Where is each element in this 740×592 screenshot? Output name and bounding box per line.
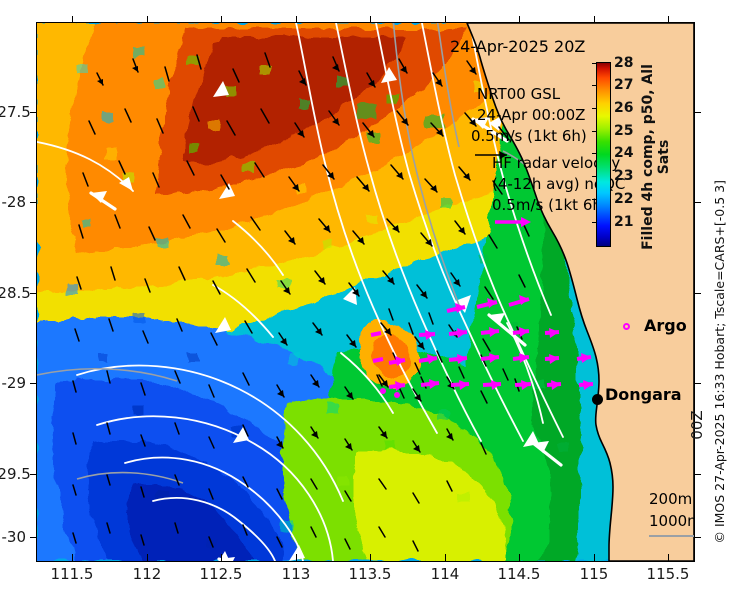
y-tick xyxy=(30,474,37,475)
timestamp-label: 24-Apr-2025 20Z xyxy=(450,37,585,56)
y-tick-label: -27.5 xyxy=(0,103,26,121)
x-tick xyxy=(147,554,148,561)
y-tick-right xyxy=(694,474,701,475)
y-tick-right xyxy=(694,537,701,538)
colorbar-tick-label: 26 xyxy=(614,100,633,116)
x-tick-label: 112.5 xyxy=(200,565,243,583)
colorbar-tick xyxy=(592,63,596,64)
y-tick xyxy=(30,112,37,113)
colorbar-title: Filled 4h comp, p50, All Sats xyxy=(640,62,672,252)
x-tick xyxy=(72,554,73,561)
x-tick-top xyxy=(668,16,669,23)
x-tick-top xyxy=(221,16,222,23)
argo-marker-icon xyxy=(623,323,630,330)
y-tick-right xyxy=(694,202,701,203)
x-tick-top xyxy=(147,16,148,23)
colorbar-gradient xyxy=(596,62,611,247)
model-scale-label: 0.5m/s (1kt 6h) xyxy=(471,127,587,145)
x-tick-top xyxy=(519,16,520,23)
x-tick-label: 113 xyxy=(282,565,311,583)
x-tick-top xyxy=(594,16,595,23)
model-label-line-2: 24-Apr 00:00Z xyxy=(477,106,585,124)
x-tick-label: 111.5 xyxy=(51,565,94,583)
x-tick-top xyxy=(296,16,297,23)
y-tick-right xyxy=(694,383,701,384)
x-tick xyxy=(519,554,520,561)
colorbar-tick xyxy=(592,222,596,223)
x-tick-top xyxy=(72,16,73,23)
x-tick-label: 114 xyxy=(431,565,460,583)
y-tick xyxy=(30,537,37,538)
x-tick xyxy=(221,554,222,561)
colorbar-tick-label: 28 xyxy=(614,55,633,71)
colorbar-tick-label: 24 xyxy=(614,145,633,161)
right-edge-time-label: 00Z xyxy=(688,410,706,439)
x-tick-label: 112 xyxy=(133,565,162,583)
y-tick-label: -29 xyxy=(0,374,26,392)
y-tick xyxy=(30,383,37,384)
x-tick-label: 113.5 xyxy=(349,565,392,583)
y-tick-right xyxy=(694,112,701,113)
y-tick-label: -28.5 xyxy=(0,284,26,302)
x-tick xyxy=(296,554,297,561)
x-tick xyxy=(594,554,595,561)
colorbar-tick-label: 22 xyxy=(614,191,633,207)
dongara-label: Dongara xyxy=(605,385,682,404)
x-tick-top xyxy=(370,16,371,23)
depth-contour-key-line xyxy=(649,535,694,537)
colorbar-tick-label: 21 xyxy=(614,214,633,230)
y-tick xyxy=(30,202,37,203)
dongara-marker-icon xyxy=(592,394,603,405)
y-tick-right xyxy=(694,293,701,294)
colorbar-tick xyxy=(592,85,596,86)
figure-root: 24-Apr-2025 20Z NRT00 GSL 24-Apr 00:00Z … xyxy=(0,0,740,592)
colorbar-tick-label: 23 xyxy=(614,168,633,184)
colorbar-tick xyxy=(592,108,596,109)
x-tick-label: 114.5 xyxy=(498,565,541,583)
y-tick-label: -30 xyxy=(0,528,26,546)
colorbar-tick xyxy=(592,176,596,177)
colorbar-tick-label: 27 xyxy=(614,77,633,93)
colorbar-tick xyxy=(592,153,596,154)
x-tick-label: 115 xyxy=(580,565,609,583)
y-tick-label: -28 xyxy=(0,193,26,211)
x-tick xyxy=(445,554,446,561)
y-tick xyxy=(30,293,37,294)
depth-200m-label: 200m xyxy=(649,490,692,508)
x-tick xyxy=(370,554,371,561)
colorbar-tick xyxy=(592,131,596,132)
model-label-line-1: NRT00 GSL xyxy=(477,85,560,103)
colorbar-tick-label: 25 xyxy=(614,123,633,139)
hf-radar-reference-arrow-icon xyxy=(493,215,539,229)
colorbar-tick xyxy=(592,199,596,200)
y-tick-label: -29.5 xyxy=(0,465,26,483)
radar-scale-label: 0.5m/s (1kt 6h) xyxy=(492,196,608,214)
x-tick xyxy=(668,554,669,561)
x-tick-label: 115.5 xyxy=(647,565,690,583)
argo-legend-label: Argo xyxy=(644,316,687,335)
credit-text: © IMOS 27-Apr-2025 16:33 Hobart; Tscale=… xyxy=(712,180,727,544)
x-tick-top xyxy=(445,16,446,23)
depth-1000m-label: 1000m xyxy=(649,512,694,530)
